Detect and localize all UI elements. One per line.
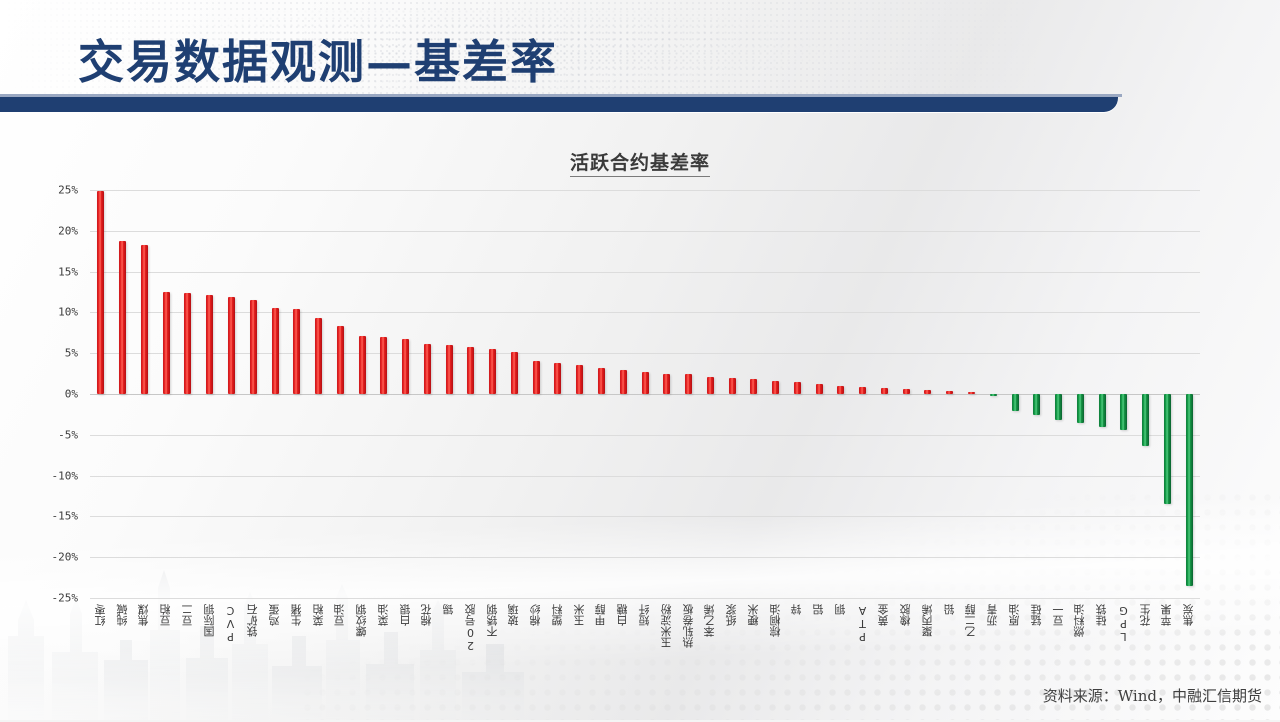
bar-苯乙烯 [707,377,714,394]
x-tick-label: 铁矿石 [247,604,258,637]
x-tick-label: 乙二醇 [965,604,976,637]
bar-热轧卷板 [685,374,692,394]
x-tick-label: 纯碱 [117,604,128,626]
x-tick-label: 菜粕 [313,604,324,626]
x-tick-label: 鸡蛋 [269,604,280,626]
x-tick-label: 不锈钢 [487,604,498,637]
bar-燃料油 [1077,394,1084,423]
x-tick-label: 纸浆 [726,604,737,626]
y-tick-label: -5% [58,428,78,441]
x-tick-label: 豆一 [1053,604,1064,626]
bar-棉纱 [533,361,540,394]
bar-玉米淀粉 [663,374,670,394]
x-tick-label: 玉米 [574,604,585,626]
page-title: 交易数据观测—基差率 [78,26,558,92]
x-tick-label: 苯乙烯 [704,604,715,637]
bar-PVC [228,297,235,394]
bar-苹果 [1164,394,1171,504]
x-tick-label: 橡胶 [900,604,911,626]
x-tick-label: 豆油 [334,604,345,626]
y-tick-label: 0% [65,388,78,401]
bar-玉米 [576,365,583,394]
y-tick-label: 15% [58,265,78,278]
x-tick-label: 白糖 [617,604,628,626]
bar-短纤 [642,372,649,394]
bar-国际铜 [206,295,213,394]
bar-棉花 [424,344,431,394]
bar-PTA [859,387,866,394]
x-tick-label: 白银 [400,604,411,626]
x-tick-label: 红枣 [95,604,106,626]
x-tick-label: 生猪 [291,604,302,626]
x-tick-label: 锡 [443,604,454,615]
x-tick-label: 棉花 [421,604,432,626]
bar-聚丙烯 [924,390,931,394]
bar-不锈钢 [489,349,496,394]
bar-铅 [946,391,953,394]
y-tick-label: 20% [58,224,78,237]
source-note: 资料来源：Wind，中融汇信期货 [1043,685,1262,706]
x-tick-label: 棕榈油 [770,604,781,637]
bar-菜粕 [315,318,322,394]
bar-花生 [1142,394,1149,446]
x-tick-label: 塑料 [552,604,563,626]
x-tick-label: 豆二 [182,604,193,626]
x-tick-label: 粳米 [748,604,759,626]
gridline [90,598,1200,599]
bar-塑料 [554,363,561,394]
bar-20号胶 [467,347,474,394]
y-axis-tick-labels: 25%20%15%10%5%0%-5%-10%-15%-20%-25% [0,190,86,598]
x-tick-label: 热轧卷板 [683,604,694,648]
bar-纯碱 [119,241,126,394]
bar-焦炭 [1186,394,1193,586]
x-tick-label: 棉纱 [530,604,541,626]
x-tick-label: 国际铜 [204,604,215,637]
bar-豆油 [337,326,344,394]
bar-乙二醇 [968,392,975,394]
bar-白糖 [620,370,627,394]
x-tick-label: 短纤 [639,604,650,626]
bar-原油 [1012,394,1019,411]
bar-豆一 [1055,394,1062,420]
bar-LPG [1120,394,1127,430]
bar-甲醇 [598,368,605,394]
bar-沥青 [990,394,997,396]
bar-生猪 [293,309,300,394]
x-tick-label: 铜 [835,604,846,615]
bar-豆二 [184,293,191,394]
gridline [90,272,1200,273]
bar-锰硅 [1033,394,1040,415]
x-tick-label: 玉米淀粉 [661,604,672,648]
y-tick-label: -20% [52,551,79,564]
x-tick-label: 燃料油 [1074,604,1085,637]
bar-螺纹钢 [359,336,366,394]
x-tick-label: 螺纹钢 [356,604,367,637]
bar-黄金 [881,388,888,394]
bar-锡 [446,345,453,394]
y-tick-label: -15% [52,510,79,523]
x-tick-label: LPG [1118,604,1129,643]
bar-焦煤 [141,245,148,394]
x-tick-label: 硅铁 [1096,604,1107,626]
x-tick-label: 聚丙烯 [922,604,933,637]
gridline [90,516,1200,517]
gridline [90,557,1200,558]
gridline [90,231,1200,232]
x-tick-label: 铅 [944,604,955,615]
bar-棕榈油 [772,381,779,394]
x-tick-label: 锌 [791,604,802,615]
slide-header: 交易数据观测—基差率 [0,0,1135,112]
y-tick-label: 25% [58,184,78,197]
bar-鸡蛋 [272,308,279,394]
bar-菜油 [380,337,387,394]
x-tick-label: 铝 [813,604,824,615]
x-tick-label: 豆粕 [160,604,171,626]
slide-canvas: 交易数据观测—基差率 活跃合约基差率 25%20%15%10%5%0%-5%-1… [0,0,1280,720]
x-tick-label: PVC [225,604,236,643]
x-tick-label: 沥青 [987,604,998,626]
plot-area [90,190,1200,598]
x-tick-label: 20号胶 [465,604,476,652]
x-tick-label: 焦炭 [1183,604,1194,626]
bar-铝 [816,384,823,394]
bar-红枣 [97,191,104,394]
x-tick-label: 焦煤 [138,604,149,626]
bar-粳米 [750,379,757,394]
x-tick-label: 甲醇 [595,604,606,626]
y-tick-label: -25% [52,592,79,605]
x-tick-label: 锰硅 [1031,604,1042,626]
y-tick-label: -10% [52,469,79,482]
header-rule [0,97,1118,112]
bar-硅铁 [1099,394,1106,427]
x-tick-label: 菜油 [378,604,389,626]
x-axis-tick-labels: 红枣纯碱焦煤豆粕豆二国际铜PVC铁矿石鸡蛋生猪菜粕豆油螺纹钢菜油白银棉花锡20号… [90,602,1200,722]
gridline [90,190,1200,191]
bar-锌 [794,382,801,394]
bar-豆粕 [163,292,170,394]
gridline [90,435,1200,436]
chart-title: 活跃合约基差率 [0,148,1280,175]
gridline [90,476,1200,477]
bar-白银 [402,339,409,394]
y-tick-label: 5% [65,347,78,360]
bar-铁矿石 [250,300,257,394]
x-tick-label: 花生 [1140,604,1151,626]
basis-rate-chart: 活跃合约基差率 25%20%15%10%5%0%-5%-10%-15%-20%-… [0,118,1280,678]
bar-纸浆 [729,378,736,394]
bar-铜 [837,386,844,394]
x-tick-label: PTA [857,604,868,643]
x-tick-label: 原油 [1009,604,1020,626]
x-tick-label: 苹果 [1161,604,1172,626]
bar-玻璃 [511,352,518,394]
x-tick-label: 玻璃 [508,604,519,626]
bar-橡胶 [903,389,910,394]
y-tick-label: 10% [58,306,78,319]
x-tick-label: 黄金 [878,604,889,626]
chart-title-text: 活跃合约基差率 [570,152,710,177]
